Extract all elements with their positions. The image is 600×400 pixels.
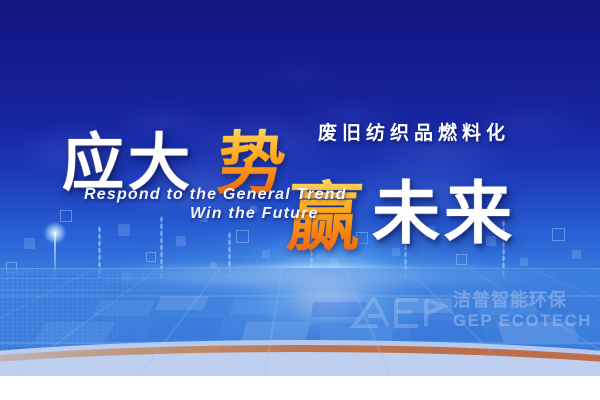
tech-square <box>552 228 565 241</box>
banner-background-scene: 洁普智能环保 GEP ECOTECH 应 大 势 赢 未 来 废旧纺织品燃料化 … <box>0 0 600 376</box>
promo-banner: 洁普智能环保 GEP ECOTECH 应 大 势 赢 未 来 废旧纺织品燃料化 … <box>0 0 600 400</box>
bottom-white-strip <box>0 376 600 400</box>
floor-tile <box>497 322 579 342</box>
photo-dark-overlay <box>0 0 600 230</box>
floor-tile <box>311 302 367 317</box>
floor-tile <box>408 320 486 340</box>
tech-square <box>250 206 257 213</box>
glow-tower-light-icon <box>44 222 66 244</box>
floor-tile <box>395 298 453 313</box>
floor-tile <box>241 322 310 341</box>
tech-square <box>200 214 208 222</box>
tech-square <box>24 238 35 249</box>
floor-tile <box>476 300 538 315</box>
tech-square <box>468 208 476 216</box>
tech-square <box>60 210 72 222</box>
tech-square <box>572 250 581 259</box>
floor-tile <box>230 300 287 315</box>
